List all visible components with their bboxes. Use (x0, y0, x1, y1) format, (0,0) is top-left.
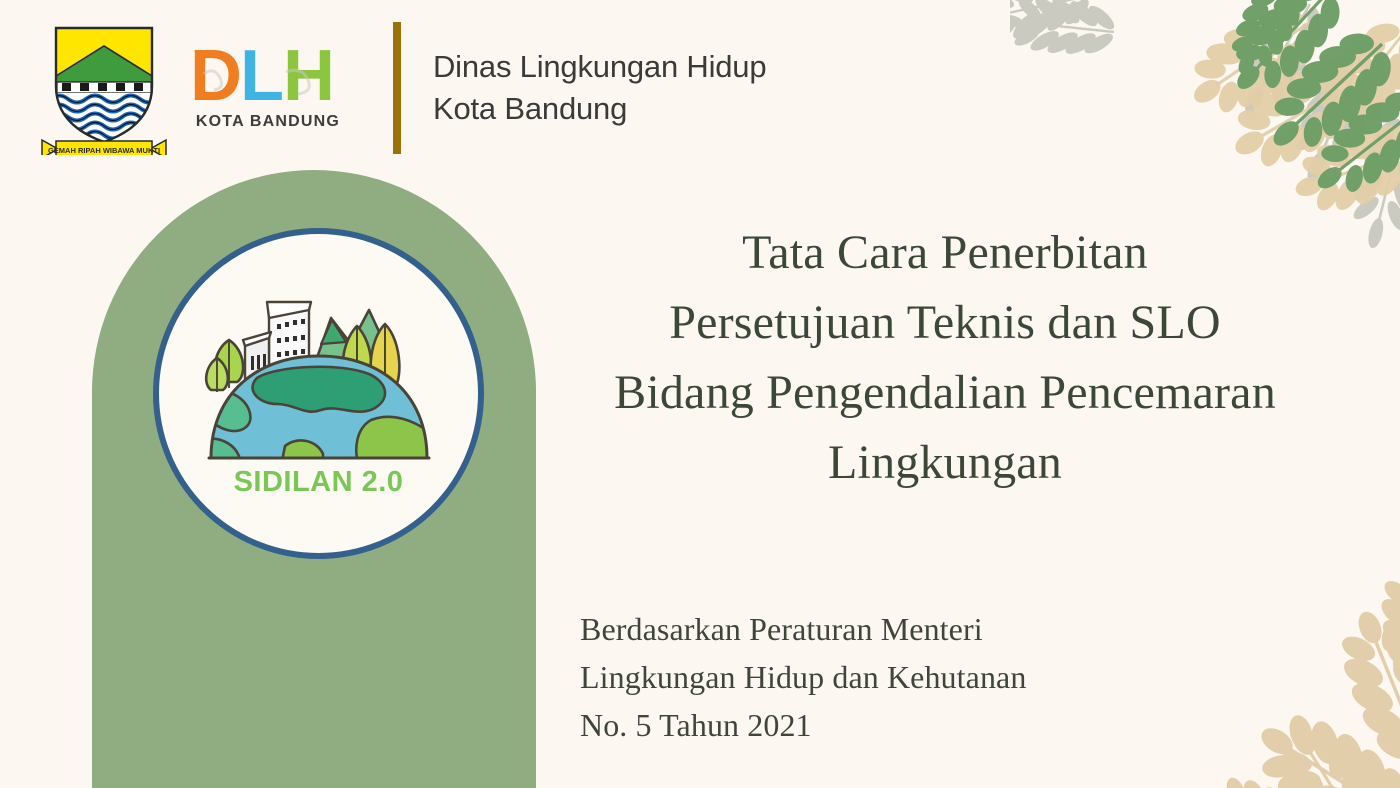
green-earth-with-city-and-trees-icon (199, 270, 439, 460)
title-line: Bidang Pengendalian Pencemaran (555, 358, 1335, 428)
title-line: Persetujuan Teknis dan SLO (555, 288, 1335, 358)
organization-line-2: Kota Bandung (433, 88, 766, 130)
crest-motto-ribbon: GEMAH RIPAH WIBAWA MUKTI (42, 140, 166, 155)
bandung-city-coat-of-arms-icon: GEMAH RIPAH WIBAWA MUKTI (36, 20, 172, 155)
dlh-letter-h: H (283, 36, 335, 116)
subtitle-line: Lingkungan Hidup dan Kehutanan (580, 653, 1200, 701)
slide-subtitle: Berdasarkan Peraturan Menteri Lingkungan… (580, 605, 1200, 749)
title-line: Lingkungan (555, 428, 1335, 498)
dlh-logo-caption: KOTA BANDUNG (196, 113, 340, 130)
dlh-letter-d: D (190, 36, 242, 116)
title-line: Tata Cara Penerbitan (555, 218, 1335, 288)
subtitle-line: No. 5 Tahun 2021 (580, 701, 1200, 749)
slide-title: Tata Cara Penerbitan Persetujuan Teknis … (555, 218, 1335, 498)
subtitle-line: Berdasarkan Peraturan Menteri (580, 605, 1200, 653)
organization-line-1: Dinas Lingkungan Hidup (433, 46, 766, 88)
organization-name: Dinas Lingkungan Hidup Kota Bandung (433, 46, 766, 130)
header-divider (393, 22, 401, 154)
presentation-slide: GEMAH RIPAH WIBAWA MUKTI D L H KOTA BAND… (0, 0, 1400, 788)
dlh-logo-icon: D L H KOTA BANDUNG (186, 30, 351, 145)
crest-motto-text: GEMAH RIPAH WIBAWA MUKTI (48, 146, 160, 155)
header: GEMAH RIPAH WIBAWA MUKTI D L H KOTA BAND… (0, 0, 900, 175)
sidilan-badge-label: SIDILAN 2.0 (159, 466, 478, 499)
dlh-letter-l: L (240, 36, 284, 116)
sidilan-badge: SIDILAN 2.0 (153, 228, 484, 559)
